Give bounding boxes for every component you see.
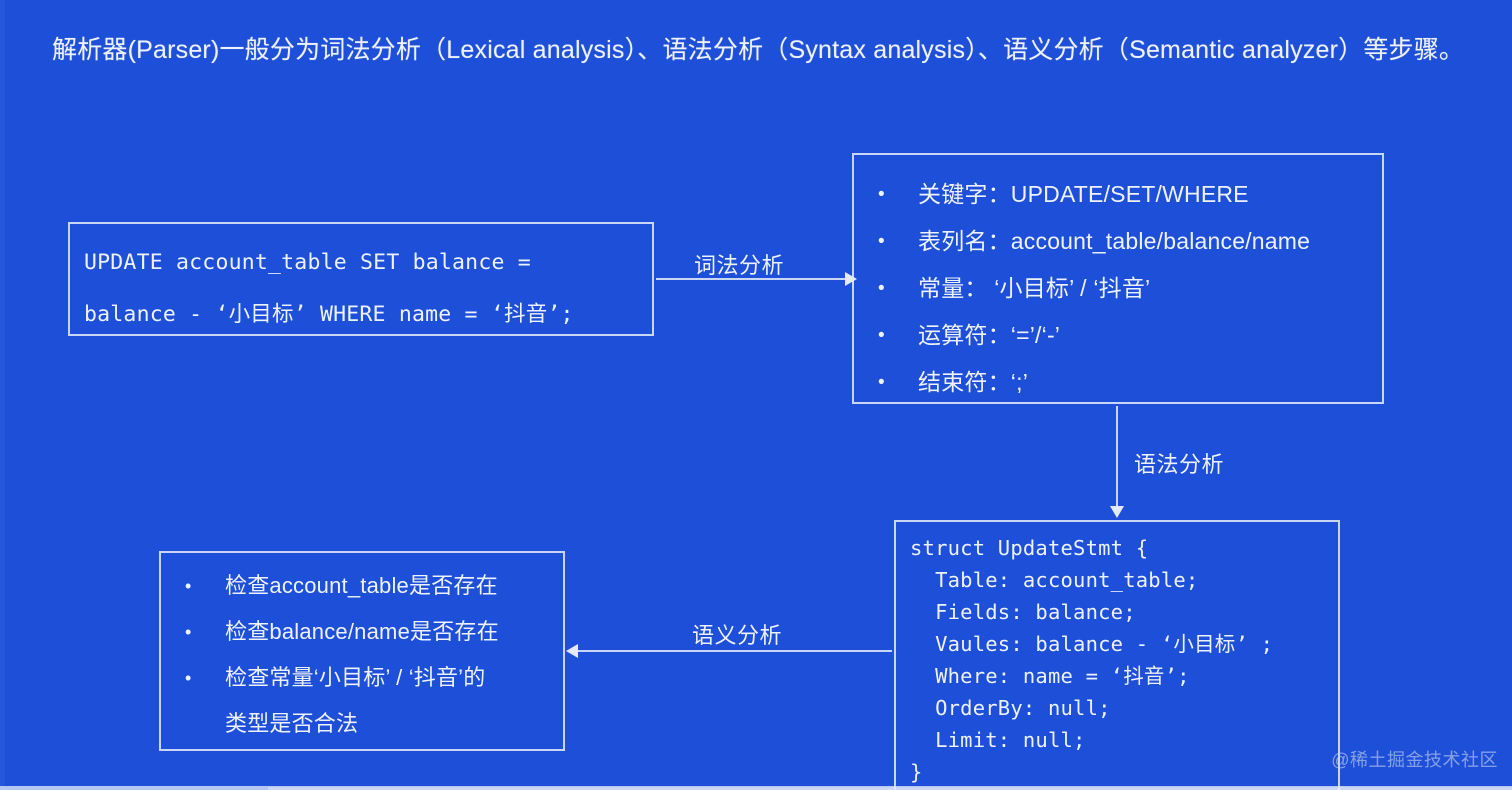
list-item: 表列名：account_table/balance/name	[864, 218, 1376, 265]
sql-line-2: balance - ‘小目标’ WHERE name = ‘抖音’;	[84, 297, 574, 328]
slide-canvas: 解析器(Parser)一般分为词法分析（Lexical analysis）、语法…	[0, 0, 1512, 790]
semantic-checks-box: 检查account_table是否存在 检查balance/name是否存在 检…	[159, 551, 565, 751]
slide-bottom-edge	[0, 786, 1512, 790]
lexical-arrow-label: 词法分析	[694, 248, 784, 280]
lexical-tokens-box: 关键字：UPDATE/SET/WHERE 表列名：account_table/b…	[852, 153, 1384, 404]
update-stmt-struct-box: struct UpdateStmt { Table: account_table…	[894, 520, 1340, 790]
semantic-arrow-label: 语义分析	[692, 618, 782, 650]
lexical-token-list: 关键字：UPDATE/SET/WHERE 表列名：account_table/b…	[864, 171, 1376, 406]
semantic-arrow-head-icon	[566, 644, 578, 658]
list-item: 运算符：‘=’/‘-’	[864, 312, 1376, 359]
syntax-arrow-label: 语法分析	[1134, 447, 1224, 479]
struct-code: struct UpdateStmt { Table: account_table…	[910, 532, 1273, 788]
semantic-check-list: 检查account_table是否存在 检查balance/name是否存在 检…	[169, 563, 561, 747]
list-item: 检查account_table是否存在	[169, 563, 561, 609]
semantic-arrow-line	[576, 650, 892, 652]
list-item: 常量： ‘小目标’ / ‘抖音’	[864, 265, 1376, 312]
list-item: 检查常量‘小目标’ / ‘抖音’的 类型是否合法	[169, 655, 561, 747]
sql-statement-box: UPDATE account_table SET balance = balan…	[68, 222, 654, 336]
lexical-arrow-head-icon	[845, 272, 857, 286]
watermark: @稀土掘金技术社区	[1331, 746, 1498, 772]
list-item: 结束符：‘;’	[864, 359, 1376, 406]
list-item: 关键字：UPDATE/SET/WHERE	[864, 171, 1376, 218]
sql-line-1: UPDATE account_table SET balance =	[84, 250, 531, 275]
syntax-arrow-head-icon	[1110, 506, 1124, 518]
syntax-arrow-line	[1116, 406, 1118, 510]
slide-left-edge	[0, 0, 5, 790]
page-title: 解析器(Parser)一般分为词法分析（Lexical analysis）、语法…	[52, 30, 1472, 66]
semantic-check-3-line-2: 类型是否合法	[225, 701, 561, 747]
list-item: 检查balance/name是否存在	[169, 609, 561, 655]
semantic-check-3-line-1: 检查常量‘小目标’ / ‘抖音’的	[225, 665, 485, 690]
